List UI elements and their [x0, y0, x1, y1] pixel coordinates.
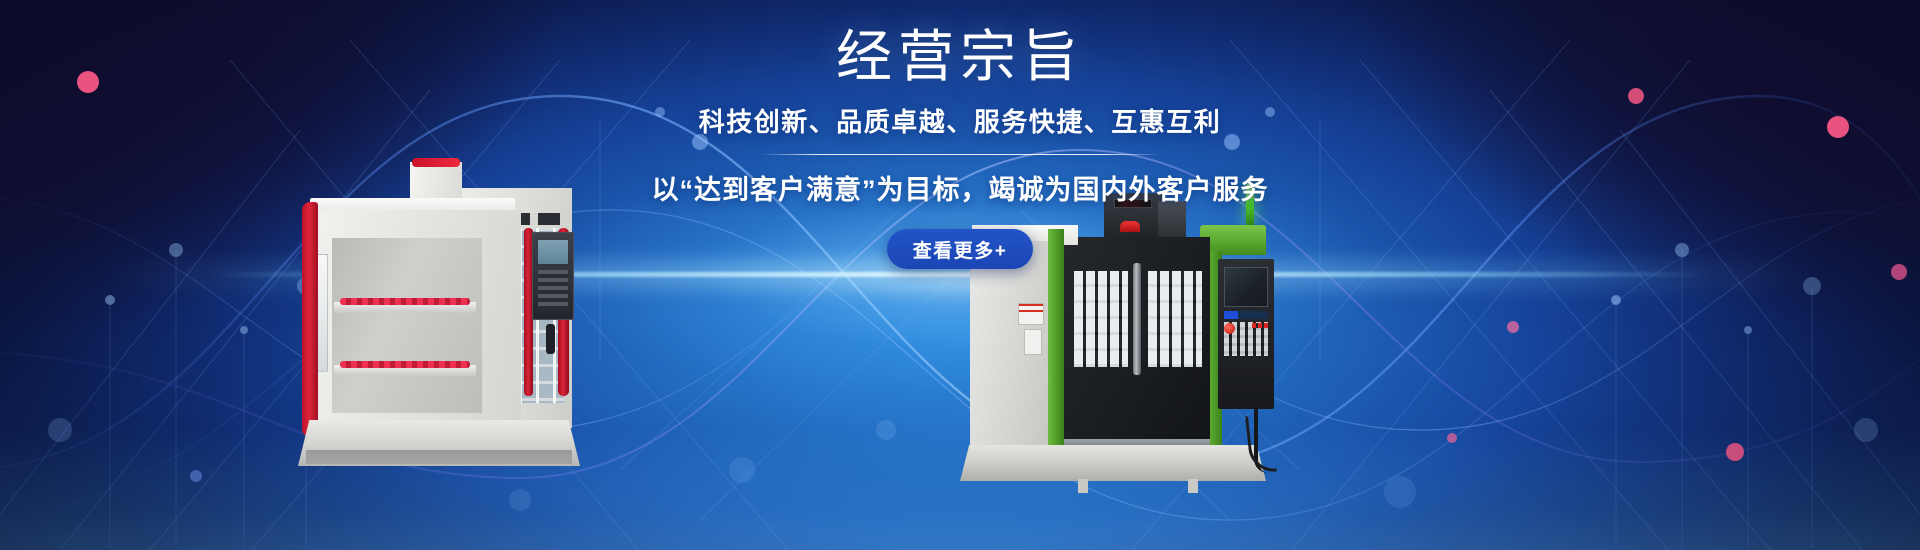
banner-subtitle: 科技创新、品质卓越、服务快捷、互惠互利	[699, 102, 1222, 139]
banner-title: 经营宗旨	[836, 24, 1084, 90]
banner-divider	[760, 154, 1160, 155]
view-more-button[interactable]: 查看更多+	[887, 229, 1034, 269]
banner-tagline: 以“达到客户满意”为目标，竭诚为国内外客户服务	[652, 168, 1269, 207]
banner-content: 经营宗旨 科技创新、品质卓越、服务快捷、互惠互利 以“达到客户满意”为目标，竭诚…	[0, 0, 1920, 550]
hero-banner: 经营宗旨 科技创新、品质卓越、服务快捷、互惠互利 以“达到客户满意”为目标，竭诚…	[0, 0, 1920, 550]
